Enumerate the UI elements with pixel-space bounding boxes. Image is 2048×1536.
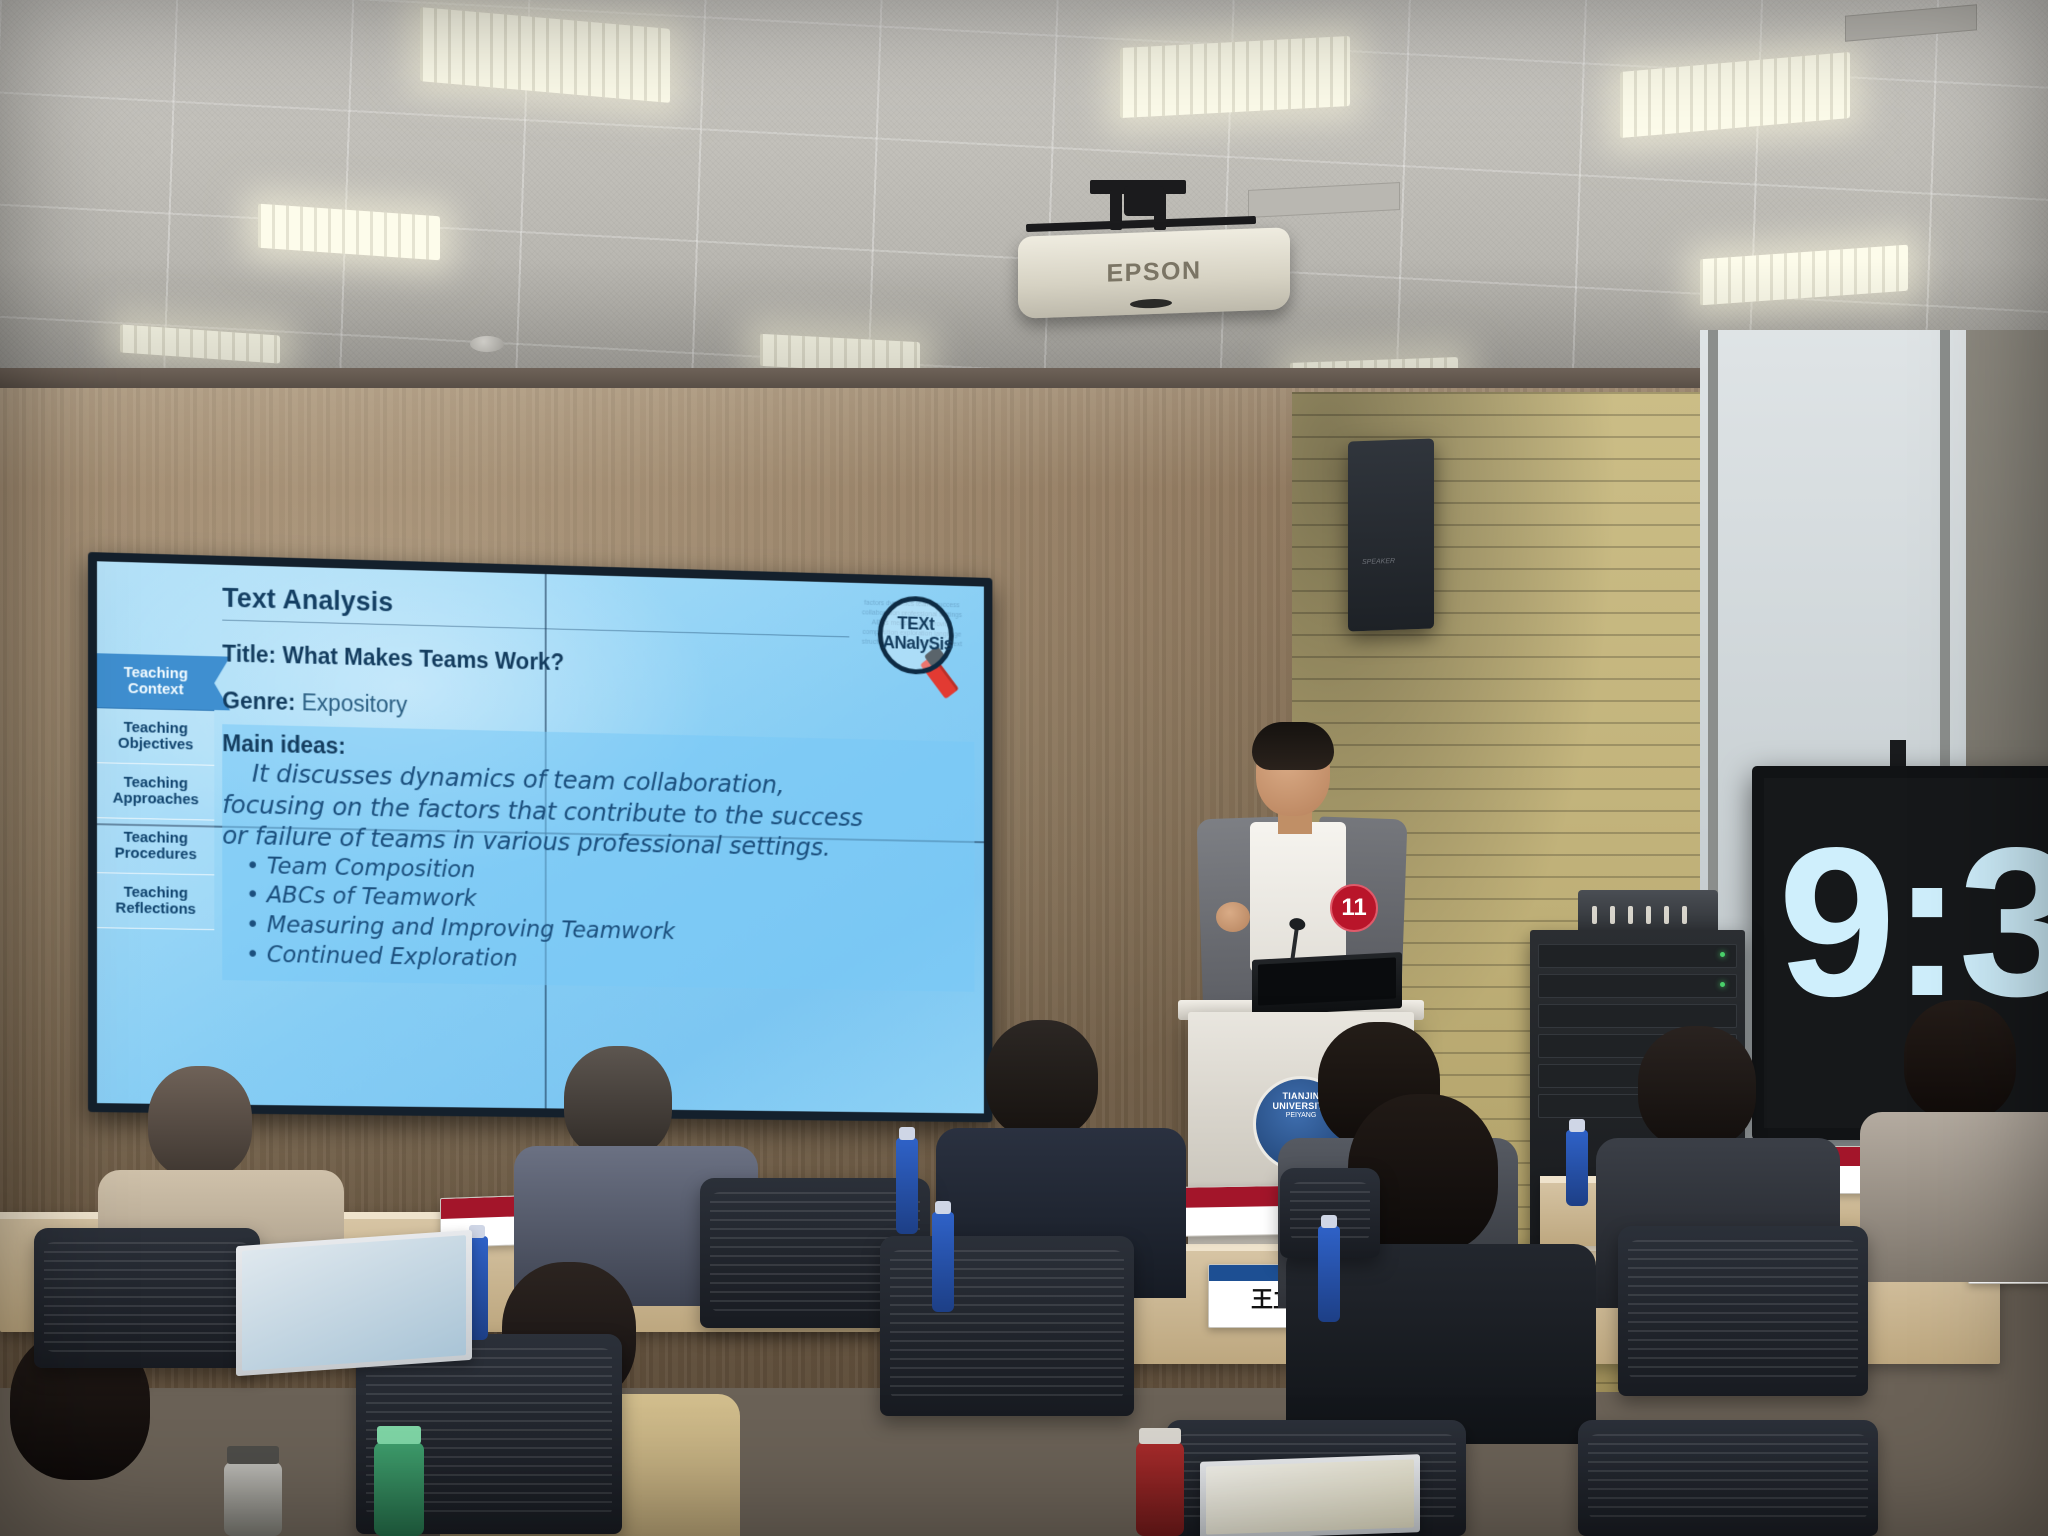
water-bottle-blue-5 [1566,1130,1588,1206]
sidebar-item-teaching-reflections[interactable]: Teaching Reflections [97,873,214,930]
chair-3[interactable] [880,1236,1134,1416]
slide-sidebar: Teaching Context Teaching Objectives Tea… [97,653,214,930]
rack-led [1720,982,1725,987]
logo-line-2: ANalySis [883,632,949,654]
person-head [1904,1000,2016,1120]
sidebar-item-teaching-approaches[interactable]: Teaching Approaches [97,763,214,820]
presenter-hair [1252,722,1334,770]
water-bottle-blue-3 [932,1212,954,1312]
audience-laptop-1[interactable] [236,1230,472,1377]
audience-person-3 [964,1020,1154,1250]
main-ideas-bullets: Team Composition ABCs of Teamwork Measur… [222,851,974,982]
podium-laptop[interactable] [1252,952,1402,1016]
placard-text: 评委5 [1169,1203,1287,1224]
magnifier-icon: TEXt ANalySis [878,595,954,675]
sidebar-item-label-line2: Approaches [113,791,199,809]
rack-unit [1538,1004,1737,1028]
chair-5[interactable] [1618,1226,1868,1396]
field-label: Genre: [222,687,295,715]
thermos-green [374,1442,424,1536]
water-bottle-blue-4 [1318,1226,1340,1322]
audience-person-6 [1880,1000,2048,1240]
audience-person-5 [1620,1026,1810,1256]
projector-mount [1080,180,1210,236]
chair-1[interactable] [34,1228,260,1368]
rack-unit [1538,944,1737,968]
projector-brand-label: EPSON [1018,253,1290,291]
thermos-red [1136,1442,1184,1536]
sidebar-item-label-line2: Reflections [115,900,195,917]
sidebar-item-teaching-context[interactable]: Teaching Context [97,653,214,711]
person-body [1860,1112,2048,1282]
field-value: Expository [302,689,407,717]
water-bottle-blue-1 [896,1138,918,1234]
sidebar-item-label-line2: Context [128,681,184,698]
presenter-hand [1216,902,1250,932]
person-head [148,1066,252,1178]
placard-judge-5: 评委5 [1168,1185,1288,1237]
presenter-number-badge: 11 [1330,884,1378,932]
wall-speaker: SPEAKER [1348,438,1434,631]
timer-display: 9:3 [1778,816,2048,1028]
main-ideas-block: Main ideas: It discusses dynamics of tea… [222,724,974,992]
rack-led [1720,952,1725,957]
person-head [986,1020,1098,1138]
sidebar-item-label-line2: Procedures [115,846,197,863]
audience-laptop-2[interactable] [1200,1454,1420,1536]
sidebar-item-label-line2: Objectives [118,736,193,754]
projected-slide: Teaching Context Teaching Objectives Tea… [97,561,984,1113]
field-label: Title: [222,641,276,668]
projector: EPSON [1018,227,1290,318]
rack-unit [1538,974,1737,998]
chair-7[interactable] [1578,1420,1878,1536]
conference-room-photo: EPSON SPEAKER Teaching Context Teaching … [0,0,2048,1536]
projector-lens [1130,298,1172,308]
projection-screen-frame: Teaching Context Teaching Objectives Tea… [88,552,992,1122]
sidebar-item-teaching-objectives[interactable]: Teaching Objectives [97,708,214,766]
slide-field-genre: Genre: Expository [222,687,974,732]
sidebar-item-teaching-procedures[interactable]: Teaching Procedures [97,818,214,875]
thermos-grey [224,1462,282,1536]
field-value: What Makes Teams Work? [282,642,564,675]
person-head [1638,1026,1756,1148]
text-analysis-logo: factors dynamics teams success collabora… [861,593,963,685]
person-head [564,1046,672,1158]
